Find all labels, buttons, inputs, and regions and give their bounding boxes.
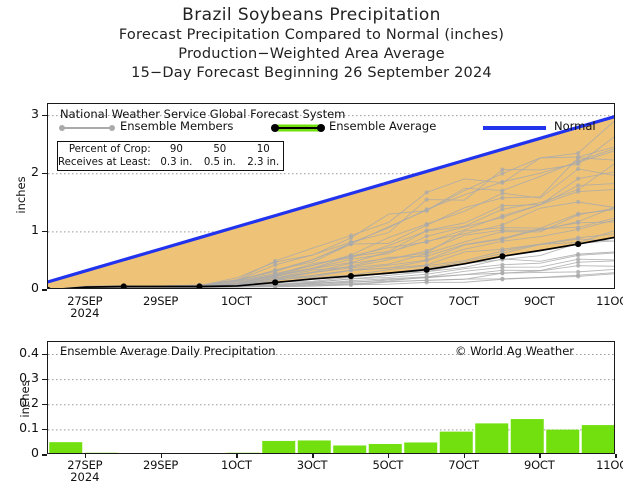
crop-percent-90: 90 [155, 143, 198, 156]
crop-percent-label: Percent of Crop: [58, 143, 155, 156]
x-tick-label-daily: 29SEP [121, 458, 201, 472]
x-tick-label-main: 1OCT [196, 294, 276, 308]
y-tick-mark-daily [42, 454, 47, 456]
x-tick-label-main: 11OCT [575, 294, 623, 308]
y-tick-label-main: 3 [13, 106, 39, 121]
x-tick-label-main: 7OCT [424, 294, 504, 308]
subtitle-2: Production−Weighted Area Average [0, 45, 623, 64]
crop-receives-label: Receives at Least: [58, 156, 155, 169]
legend-ensemble-members-label: Ensemble Members [120, 119, 233, 133]
y-tick-mark-main [42, 231, 47, 233]
x-tick-label-main: 5OCT [348, 294, 428, 308]
percent-of-crop-table: Percent of Crop: 90 50 10 Receives at Le… [58, 143, 285, 169]
y-tick-mark-main [42, 115, 47, 117]
page-title: Brazil Soybeans Precipitation [0, 4, 623, 26]
x-tick-mark-daily [85, 454, 87, 458]
y-tick-mark-main [42, 173, 47, 175]
y-tick-label-main: 2 [13, 164, 39, 179]
subtitle-1: Forecast Precipitation Compared to Norma… [0, 26, 623, 45]
x-tick-mark-daily [615, 454, 617, 458]
x-tick-label-main: 3OCT [272, 294, 352, 308]
y-tick-label-daily: 0.4 [7, 345, 39, 360]
y-tick-mark-daily [42, 379, 47, 381]
x-tick-label-daily: 7OCT [424, 458, 504, 472]
y-tick-label-main: 1 [13, 222, 39, 237]
x-tick-label-daily: 1OCT [196, 458, 276, 472]
table-row: Percent of Crop: 90 50 10 [58, 143, 285, 156]
crop-amount-10: 2.3 in. [242, 156, 285, 169]
x-tick-label-daily: 11OCT [575, 458, 623, 472]
daily-precip-svg [48, 342, 615, 454]
crop-amount-90: 0.3 in. [155, 156, 198, 169]
chart-page: Brazil Soybeans Precipitation Forecast P… [0, 0, 623, 485]
subtitle-3: 15−Day Forecast Beginning 26 September 2… [0, 64, 623, 83]
y-tick-label-daily: 0.1 [7, 420, 39, 435]
y-tick-label-daily: 0.3 [7, 370, 39, 385]
legend-row: Ensemble Members Ensemble Average Normal [58, 121, 610, 135]
x-tick-label-daily: 9OCT [499, 458, 579, 472]
title-block: Brazil Soybeans Precipitation Forecast P… [0, 4, 623, 83]
y-tick-mark-daily [42, 429, 47, 431]
y-tick-label-daily: 0 [7, 445, 39, 460]
crop-percent-50: 50 [198, 143, 241, 156]
x-tick-label-main: 29SEP [121, 294, 201, 308]
x-tick-mark-daily [539, 454, 541, 458]
x-axis-year-label-main: 2024 [45, 306, 125, 320]
x-tick-label-daily: 5OCT [348, 458, 428, 472]
percent-of-crop-box: Percent of Crop: 90 50 10 Receives at Le… [57, 141, 284, 171]
x-tick-mark-daily [388, 454, 390, 458]
x-tick-mark-daily [312, 454, 314, 458]
y-tick-mark-daily [42, 404, 47, 406]
table-row: Receives at Least: 0.3 in. 0.5 in. 2.3 i… [58, 156, 285, 169]
daily-panel-caption: Ensemble Average Daily Precipitation [60, 344, 276, 358]
y-tick-label-daily: 0.2 [7, 395, 39, 410]
y-tick-label-main: 0 [13, 280, 39, 295]
y-tick-mark-daily [42, 354, 47, 356]
y-tick-mark-main [42, 289, 47, 291]
legend-ensemble-average-label: Ensemble Average [329, 119, 436, 133]
x-axis-year-label-daily: 2024 [45, 470, 125, 484]
crop-percent-10: 10 [242, 143, 285, 156]
x-tick-mark-daily [236, 454, 238, 458]
x-tick-mark-daily [464, 454, 466, 458]
legend-normal-label: Normal [554, 119, 596, 133]
x-tick-label-main: 9OCT [499, 294, 579, 308]
x-tick-label-daily: 3OCT [272, 458, 352, 472]
crop-amount-50: 0.5 in. [198, 156, 241, 169]
copyright-label: © World Ag Weather [455, 344, 574, 358]
x-tick-mark-daily [161, 454, 163, 458]
